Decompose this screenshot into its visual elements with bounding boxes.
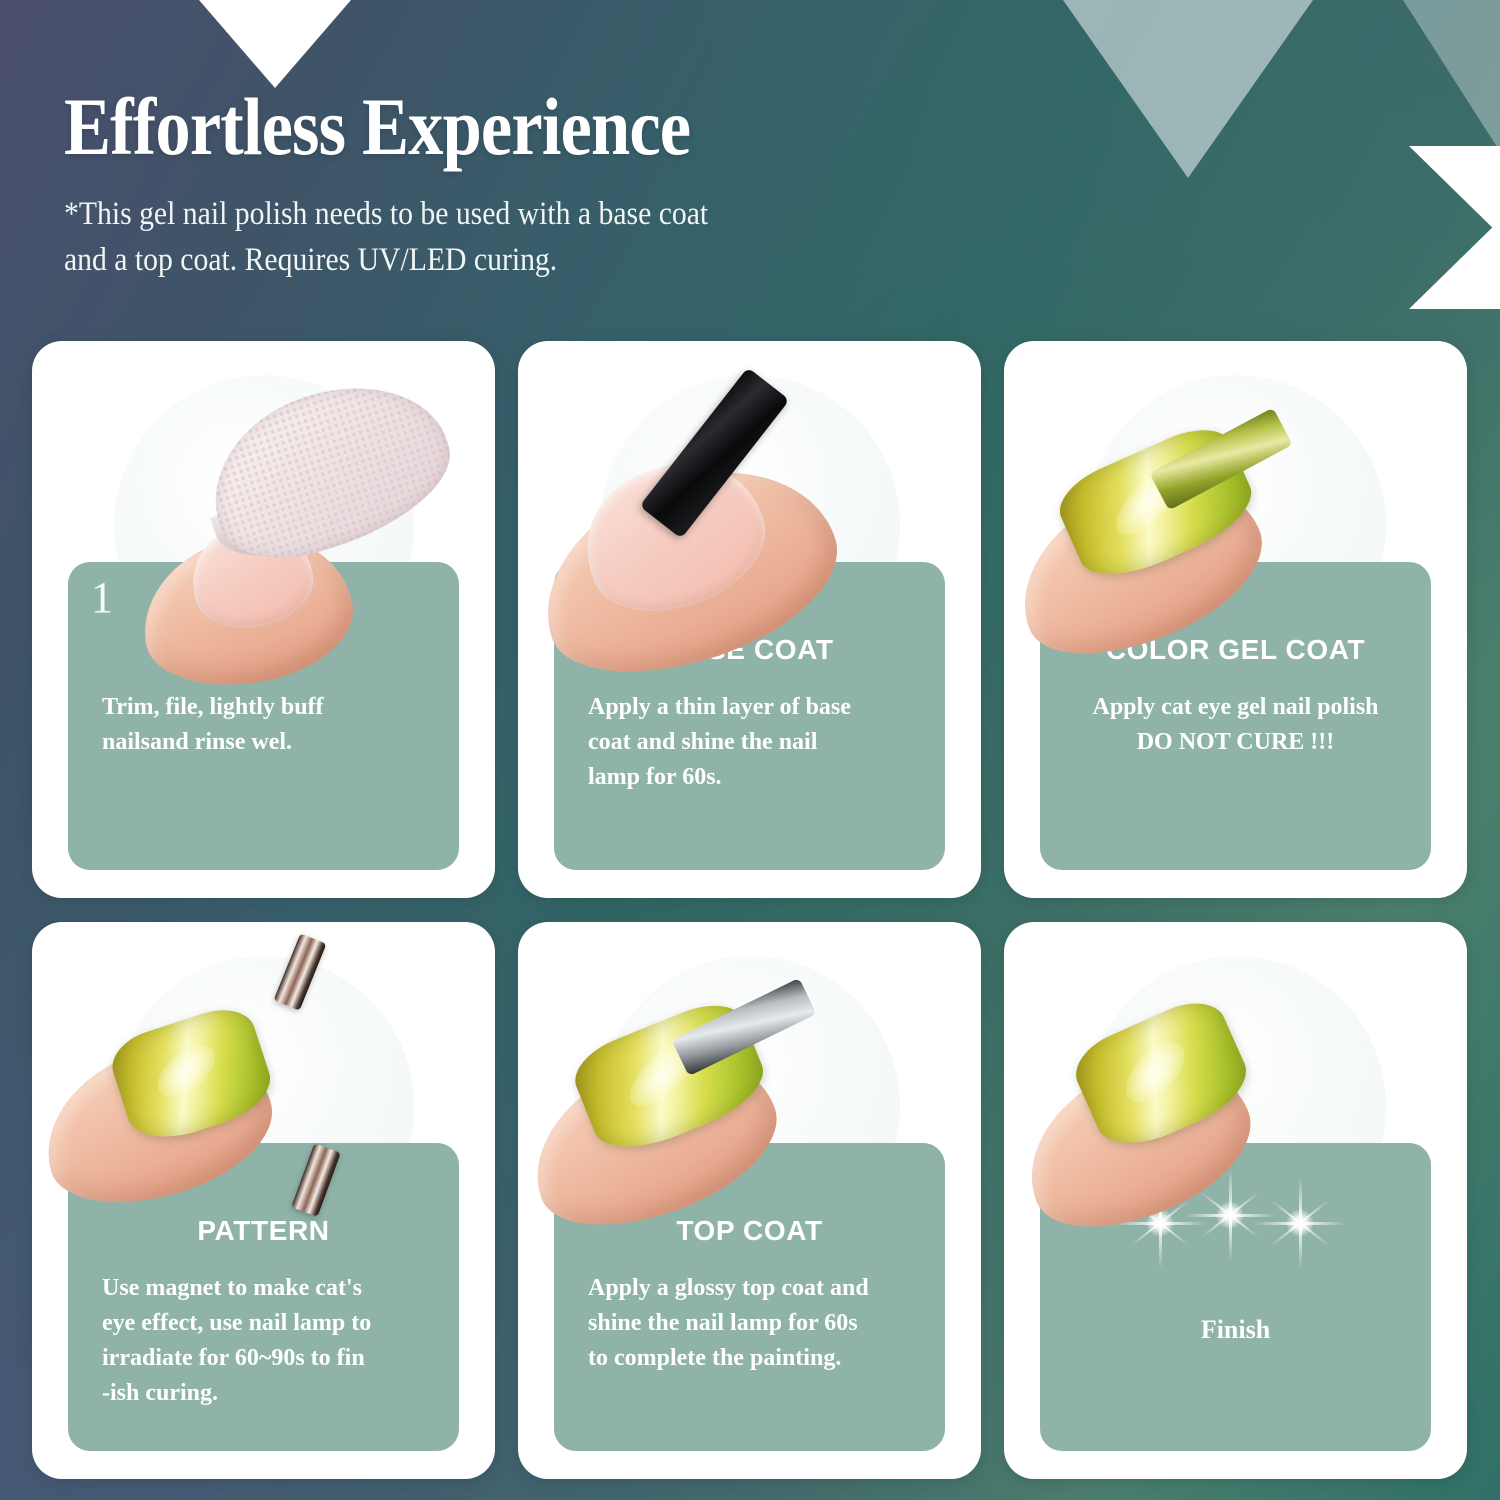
page-title: Effortless Experience bbox=[64, 85, 690, 169]
step-number: 5 bbox=[577, 1157, 599, 1201]
header-block: Effortless Experience *This gel nail pol… bbox=[64, 85, 792, 284]
step-description: Finish bbox=[1058, 1311, 1413, 1349]
steps-grid: 1 PREP Trim, file, lightly buff nailsand… bbox=[32, 341, 1468, 1479]
step-title: BASE COAT bbox=[568, 634, 931, 666]
step-title: PATTERN bbox=[82, 1215, 445, 1247]
step-panel-3: 3 COLOR GEL COAT Apply cat eye gel nail … bbox=[1040, 562, 1431, 870]
decor-triangle-white-top bbox=[199, 0, 351, 88]
step-card-6[interactable]: 6 Finish bbox=[1004, 922, 1467, 1479]
decor-triangle-grey-large bbox=[1063, 0, 1313, 178]
step-number: 6 bbox=[1063, 1157, 1085, 1201]
step-card-4[interactable]: 4 PATTERN Use magnet to make cat's eye e… bbox=[32, 922, 495, 1479]
step-card-2[interactable]: 2 BASE COAT Apply a thin layer of base c… bbox=[518, 341, 981, 898]
step-description: Apply cat eye gel nail polish DO NOT CUR… bbox=[1058, 690, 1413, 760]
step-panel-4: 4 PATTERN Use magnet to make cat's eye e… bbox=[68, 1143, 459, 1451]
step-title: PREP bbox=[82, 634, 445, 666]
sparkle-icon-3 bbox=[1254, 1177, 1346, 1269]
decor-arrow-white-right bbox=[1409, 146, 1500, 309]
step-panel-1: 1 PREP Trim, file, lightly buff nailsand… bbox=[68, 562, 459, 870]
step-panel-6: 6 Finish bbox=[1040, 1143, 1431, 1451]
step-card-1[interactable]: 1 PREP Trim, file, lightly buff nailsand… bbox=[32, 341, 495, 898]
step-number: 3 bbox=[1063, 576, 1085, 620]
decor-triangle-grey-right bbox=[1403, 0, 1500, 150]
step-title: TOP COAT bbox=[568, 1215, 931, 1247]
step-description: Apply a glossy top coat and shine the na… bbox=[588, 1271, 919, 1376]
step-card-3[interactable]: 3 COLOR GEL COAT Apply cat eye gel nail … bbox=[1004, 341, 1467, 898]
step-description: Use magnet to make cat's eye effect, use… bbox=[102, 1271, 433, 1411]
step-number: 1 bbox=[91, 576, 113, 620]
step-card-5[interactable]: 5 TOP COAT Apply a glossy top coat and s… bbox=[518, 922, 981, 1479]
step-number: 4 bbox=[91, 1157, 113, 1201]
step-title: COLOR GEL COAT bbox=[1054, 634, 1417, 666]
step-description: Trim, file, lightly buff nailsand rinse … bbox=[102, 690, 433, 760]
step-description: Apply a thin layer of base coat and shin… bbox=[588, 690, 919, 795]
step-number: 2 bbox=[577, 576, 599, 620]
step-panel-2: 2 BASE COAT Apply a thin layer of base c… bbox=[554, 562, 945, 870]
page-subtitle: *This gel nail polish needs to be used w… bbox=[64, 191, 719, 285]
poster-canvas: Effortless Experience *This gel nail pol… bbox=[0, 0, 1500, 1500]
step-panel-5: 5 TOP COAT Apply a glossy top coat and s… bbox=[554, 1143, 945, 1451]
